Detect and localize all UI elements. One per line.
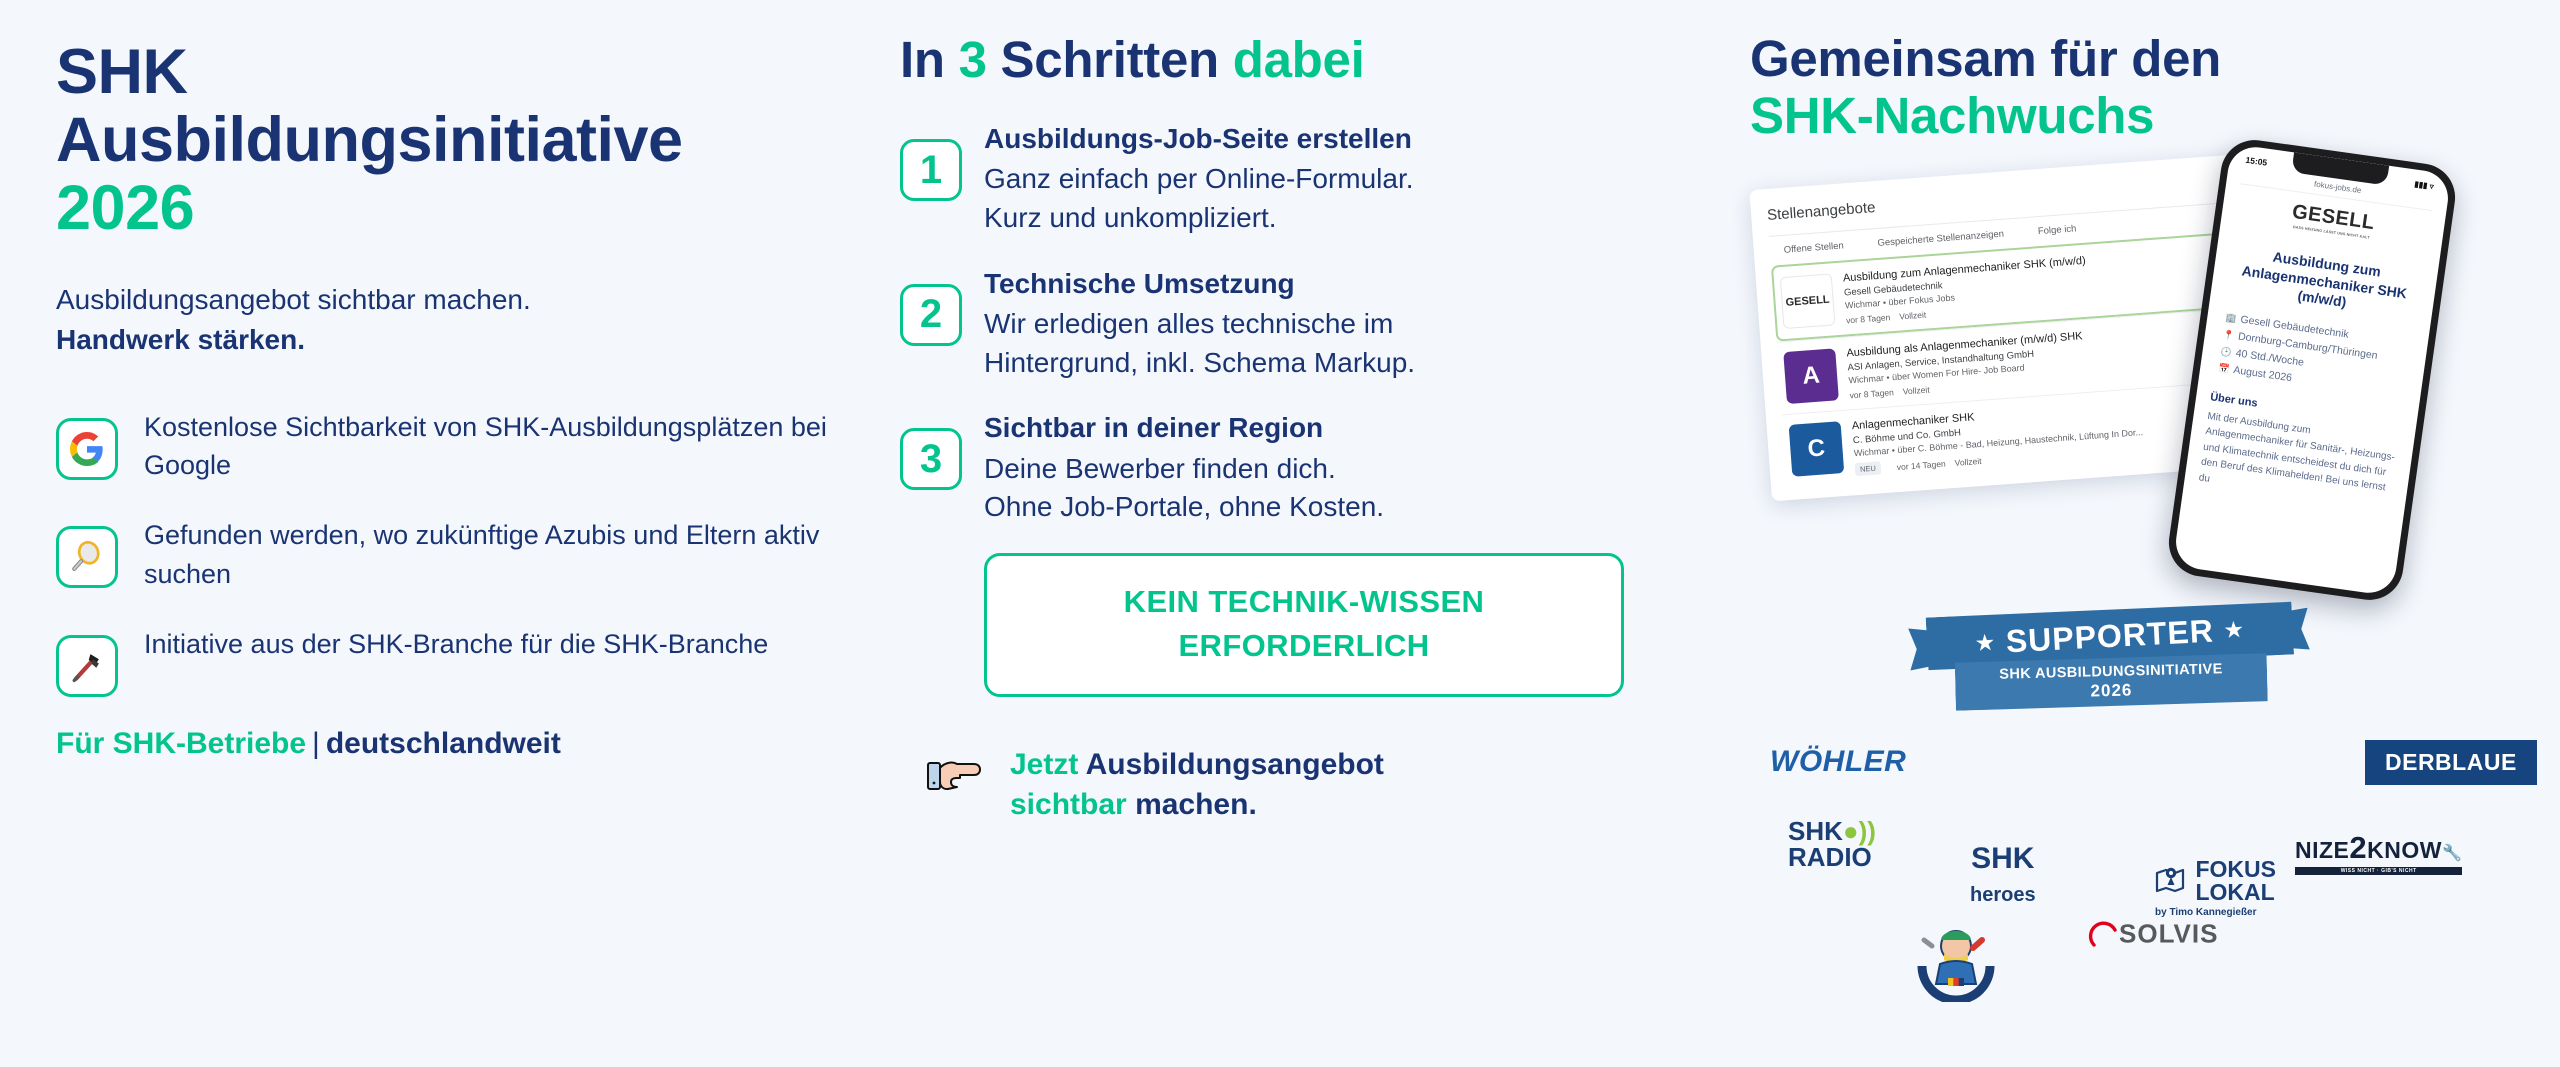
supporter-sub-line2: 2026 (2090, 680, 2132, 701)
cta-text-green1: Jetzt (1010, 748, 1078, 781)
calendar-icon: 📅 (2218, 363, 2231, 374)
page-title: SHK Ausbildungsinitiative 2026 (56, 38, 880, 242)
step-number-badge: 2 (900, 284, 962, 346)
step-title: Ausbildungs-Job-Seite erstellen (984, 121, 1414, 157)
step-number-badge: 1 (900, 139, 962, 201)
step-desc-line1: Ganz einfach per Online-Formular. (984, 160, 1414, 199)
feature-item-google: Kostenlose Sichtbarkeit von SHK-Ausbildu… (56, 406, 880, 485)
steps-list: 1 Ausbildungs-Job-Seite erstellen Ganz e… (900, 119, 1720, 527)
star-icon: ★ (2224, 616, 2244, 642)
page-title-year: 2026 (56, 174, 880, 242)
cta-text-green2: sichtbar (1010, 788, 1127, 821)
right-heading: Gemeinsam für den SHK-Nachwuchs (1750, 30, 2560, 144)
job-age: vor 14 Tagen (1896, 458, 1946, 472)
supporter-badge-sub: SHK AUSBILDUNGSINITIATIVE 2026 (1955, 653, 2268, 711)
step-number-badge: 3 (900, 428, 962, 490)
gesell-logo-text: GESELL (1785, 294, 1830, 309)
google-icon (56, 418, 118, 480)
job-type: Vollzeit (1902, 385, 1930, 397)
tab-folge-ich[interactable]: Folge ich (2038, 223, 2077, 237)
building-icon: 🏢 (2225, 312, 2238, 323)
hero-subtitle-line2: Handwerk stärken. (56, 320, 880, 360)
shk-heroes-line1: SHK (1971, 842, 2034, 875)
hero-subtitle-line1: Ausbildungsangebot sichtbar machen. (56, 284, 531, 315)
solvis-arc-icon (2085, 915, 2119, 956)
steps-heading: In 3 Schritten dabei (900, 30, 1720, 89)
job-new-badge: NEU (1855, 461, 1882, 476)
step-title: Sichtbar in deiner Region (984, 410, 1384, 446)
feature-item-label: Gefunden werden, wo zukünftige Azubis un… (144, 514, 880, 593)
clock-icon: 🕑 (2220, 346, 2233, 357)
nize2know-part3: KNOW (2367, 837, 2442, 863)
nize2know-logo: NIZE2KNOW🔧 WISS NICHT · GIB'S NICHT (2295, 830, 2462, 875)
heizungsbauer-mascot-logo (1910, 910, 2002, 1007)
step-item-2: 2 Technische Umsetzung Wir erledigen all… (900, 264, 1720, 383)
tab-gespeicherte[interactable]: Gespeicherte Stellenanzeigen (1877, 229, 2004, 249)
right-column: Gemeinsam für den SHK-Nachwuchs Stellena… (1720, 0, 2560, 1067)
supporter-badge-text: SUPPORTER (2005, 612, 2215, 660)
left-footer-separator: | (306, 727, 326, 760)
right-heading-line2: SHK-Nachwuchs (1750, 87, 2560, 144)
promo-banner: SHK Ausbildungsinitiative 2026 Ausbildun… (0, 0, 2560, 1067)
pin-icon: 📍 (2222, 329, 2235, 340)
supporter-badge: ★ SUPPORTER ★ SHK AUSBILDUNGSINITIATIVE … (1907, 592, 2312, 725)
steps-heading-number: 3 (959, 31, 987, 88)
step-desc-line1: Wir erledigen alles technische im (984, 305, 1415, 344)
supporter-sub-line1: SHK AUSBILDUNGSINITIATIVE (1999, 661, 2223, 682)
step-title: Technische Umsetzung (984, 266, 1415, 302)
shk-heroes-line2: heroes (1970, 886, 2036, 905)
wohler-logo: WÖHLER (1770, 745, 1906, 779)
steps-heading-b: Schritten (987, 31, 1233, 88)
feature-list: Kostenlose Sichtbarkeit von SHK-Ausbildu… (56, 406, 880, 697)
left-footer: Für SHK-Betriebe|deutschlandweit (56, 727, 880, 761)
star-icon: ★ (1975, 630, 1995, 656)
step-desc-line2: Hintergrund, inkl. Schema Markup. (984, 344, 1415, 383)
page-title-line1: SHK (56, 38, 880, 106)
step-desc-line1: Deine Bewerber finden dich. (984, 450, 1384, 489)
phone-job-title: Ausbildung zum Anlagenmechaniker SHK (m/… (2231, 243, 2419, 320)
left-column: SHK Ausbildungsinitiative 2026 Ausbildun… (0, 0, 880, 1067)
feature-item-label: Kostenlose Sichtbarkeit von SHK-Ausbildu… (144, 406, 880, 485)
no-tech-knowledge-badge: KEIN TECHNIK-WISSEN ERFORDERLICH (984, 553, 1624, 697)
nize2know-part2: 2 (2349, 830, 2367, 865)
left-footer-navy: deutschlandweit (326, 727, 561, 760)
step-item-1: 1 Ausbildungs-Job-Seite erstellen Ganz e… (900, 119, 1720, 238)
steps-heading-a: In (900, 31, 959, 88)
tab-offene-stellen[interactable]: Offene Stellen (1783, 240, 1844, 255)
job-age: vor 8 Tagen (1849, 387, 1894, 400)
feature-item-search: Gefunden werden, wo zukünftige Azubis un… (56, 514, 880, 593)
gesell-logo-icon: GESELL (1780, 273, 1836, 329)
call-to-action-row[interactable]: Jetzt Ausbildungsangebot sichtbar machen… (908, 745, 1720, 826)
phone-job-facts: 🏢Gesell Gebäudetechnik 📍Dornburg-Camburg… (2213, 308, 2415, 404)
pointing-hand-icon (926, 755, 988, 802)
steps-heading-c: dabei (1233, 31, 1365, 88)
step-body: Ausbildungs-Job-Seite erstellen Ganz ein… (984, 119, 1414, 238)
fokus-lokal-logo: FOKUS LOKAL by Timo Kannegießer (2155, 858, 2276, 918)
step-body: Sichtbar in deiner Region Deine Bewerber… (984, 408, 1384, 527)
hero-subtitle: Ausbildungsangebot sichtbar machen. Hand… (56, 280, 880, 360)
step-desc-line2: Ohne Job-Portale, ohne Kosten. (984, 488, 1384, 527)
right-heading-line1: Gemeinsam für den (1750, 30, 2221, 87)
derblaue-logo: DERBLAUE (2365, 740, 2537, 785)
shk-radio-logo: SHK●)) RADIO (1788, 818, 1876, 870)
feature-item-industry: Initiative aus der SHK-Branche für die S… (56, 623, 880, 697)
cta-line2: ERFORDERLICH (997, 624, 1611, 668)
cta-line1: KEIN TECHNIK-WISSEN (997, 580, 1611, 624)
nize2know-part1: NIZE (2295, 837, 2349, 863)
job-type: Vollzeit (1954, 455, 1982, 467)
fokus-lokal-line2: LOKAL (2195, 881, 2276, 904)
nize2know-sub: WISS NICHT · GIB'S NICHT (2295, 867, 2462, 875)
phone-screen: 15:05 ▮▮▮ ▿ fokus-jobs.de GESELL DASS HE… (2172, 144, 2451, 597)
job-listings-heading: Stellenangebote (1767, 199, 1876, 224)
step-desc-line2: Kurz und unkompliziert. (984, 199, 1414, 238)
magnifier-icon (56, 526, 118, 588)
solvis-logo: SOLVIS (2085, 915, 2218, 956)
step-body: Technische Umsetzung Wir erledigen alles… (984, 264, 1415, 383)
cta-text-navy2: machen. (1135, 788, 1257, 821)
company-avatar: C (1789, 421, 1845, 477)
job-age: vor 8 Tagen (1846, 312, 1891, 325)
fokus-lokal-mark (2155, 865, 2185, 898)
step-item-3: 3 Sichtbar in deiner Region Deine Bewerb… (900, 408, 1720, 527)
cta-text: Jetzt Ausbildungsangebot sichtbar machen… (1010, 745, 1384, 826)
tools-icon (56, 635, 118, 697)
company-avatar: A (1783, 348, 1839, 404)
product-mockup: Stellenangebote Folgen Offene Stellen Ge… (1740, 150, 2500, 630)
fokus-lokal-line1: FOKUS (2195, 858, 2276, 881)
solvis-text: SOLVIS (2119, 918, 2218, 948)
page-title-line2: Ausbildungsinitiative (56, 106, 880, 174)
shk-heroes-logo: SHK heroes (1970, 845, 2036, 905)
middle-column: In 3 Schritten dabei 1 Ausbildungs-Job-S… (880, 0, 1720, 1067)
left-footer-green: Für SHK-Betriebe (56, 727, 306, 760)
job-type: Vollzeit (1899, 310, 1927, 322)
cta-text-navy1: Ausbildungsangebot (1086, 748, 1384, 781)
feature-item-label: Initiative aus der SHK-Branche für die S… (144, 623, 768, 663)
shk-radio-line2: RADIO (1788, 842, 1872, 872)
pipe-wrench-icon: 🔧 (2442, 845, 2462, 862)
sponsor-logos: WÖHLER SHK●)) RADIO SHK heroes (1740, 710, 2540, 960)
